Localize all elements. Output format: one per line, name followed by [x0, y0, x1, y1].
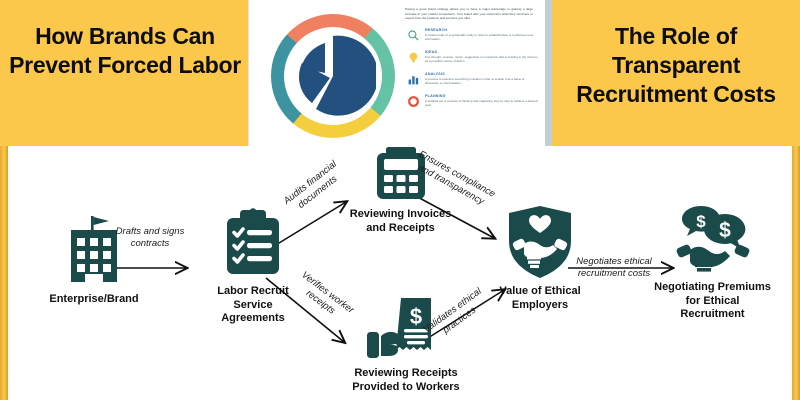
donut-chart-illustration — [257, 6, 407, 146]
document-item-body: A careful study or a systematic study in… — [425, 33, 539, 41]
document-item-analysis: ANALYSIS A process to examine something … — [405, 72, 539, 87]
document-item-body: A detailed set or process of thinking an… — [425, 99, 539, 107]
panel-left-edge — [0, 146, 8, 400]
document-item-heading: RESEARCH — [425, 28, 539, 32]
document-item-ideas: IDEAS Any thought, concept, notion, sugg… — [405, 50, 539, 65]
lightbulb-icon — [407, 51, 420, 64]
document-item-planning: PLANNING A detailed set or process of th… — [405, 94, 539, 109]
node-label: Reviewing Receipts Provided to Workers — [326, 367, 486, 394]
node-labor-recruit-service-agreements[interactable]: Labor Recruit Service Agreements — [178, 208, 328, 326]
target-ring-icon — [407, 95, 420, 108]
inner-pie-chart — [290, 33, 376, 119]
svg-text:$: $ — [410, 304, 422, 329]
process-flow-diagram: Enterprise/Brand Labor Recruit Service A… — [8, 146, 792, 400]
document-item-body: A process to examine something in detail… — [425, 77, 539, 85]
node-label: Negotiating Premiums for Ethical Recruit… — [630, 281, 795, 322]
document-text-column: Having a good brand strategy allows you … — [405, 7, 539, 109]
magnifier-icon — [407, 29, 420, 42]
clipboard-checklist-icon — [223, 208, 283, 280]
headline-left: How Brands Can Prevent Forced Labor — [0, 22, 250, 80]
svg-text:$: $ — [719, 219, 731, 242]
document-item-research: RESEARCH A careful study or a systematic… — [405, 28, 539, 43]
document-item-heading: ANALYSIS — [425, 72, 539, 76]
document-item-heading: IDEAS — [425, 50, 539, 54]
document-item-heading: PLANNING — [425, 94, 539, 98]
document-paragraph: Having a good brand strategy allows you … — [405, 7, 533, 21]
node-label: Enterprise/Brand — [14, 293, 174, 307]
handshake-money-bubbles-icon: $ $ — [673, 204, 753, 276]
document-item-body: Any thought, concept, notion, suggestion… — [425, 55, 539, 63]
svg-text:$: $ — [696, 212, 706, 231]
brand-strategy-document-card: Having a good brand strategy allows you … — [248, 0, 545, 146]
edge-label-drafts-and-signs-contracts: Drafts and signs contracts — [104, 226, 196, 249]
bar-chart-icon — [407, 73, 420, 86]
edge-label-negotiates-ethical-recruitment-costs: Negotiates ethical recruitment costs — [560, 256, 668, 279]
node-label: Reviewing Invoices and Receipts — [318, 208, 483, 235]
headline-right: The Role of Transparent Recruitment Cost… — [552, 22, 800, 109]
